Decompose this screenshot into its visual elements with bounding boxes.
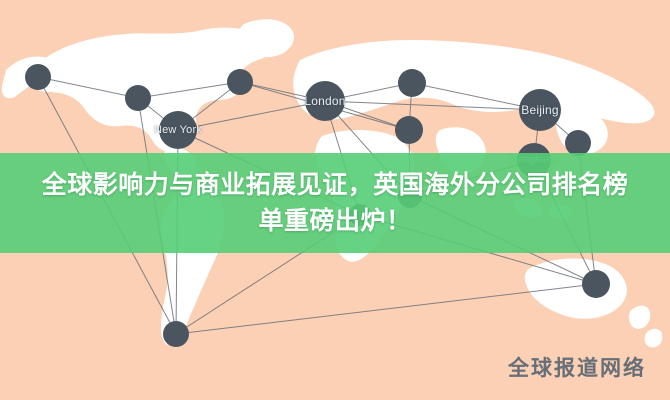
network-node <box>227 69 253 95</box>
banner-image: New YorkLondonBeijingHongkong 全球影响力与商业拓展… <box>0 0 670 400</box>
network-node <box>398 69 426 97</box>
network-node <box>25 64 51 90</box>
network-node <box>159 111 197 149</box>
network-node <box>395 116 423 144</box>
network-node <box>582 270 610 298</box>
headline-text: 全球影响力与商业拓展见证，英国海外分公司排名榜单重磅出炉！ <box>35 167 635 239</box>
network-node <box>519 89 561 131</box>
network-node <box>305 81 345 121</box>
network-node <box>125 85 151 111</box>
headline-banner: 全球影响力与商业拓展见证，英国海外分公司排名榜单重磅出炉！ <box>0 153 670 253</box>
watermark-label: 全球报道网络 <box>508 352 646 382</box>
network-node <box>163 321 189 347</box>
